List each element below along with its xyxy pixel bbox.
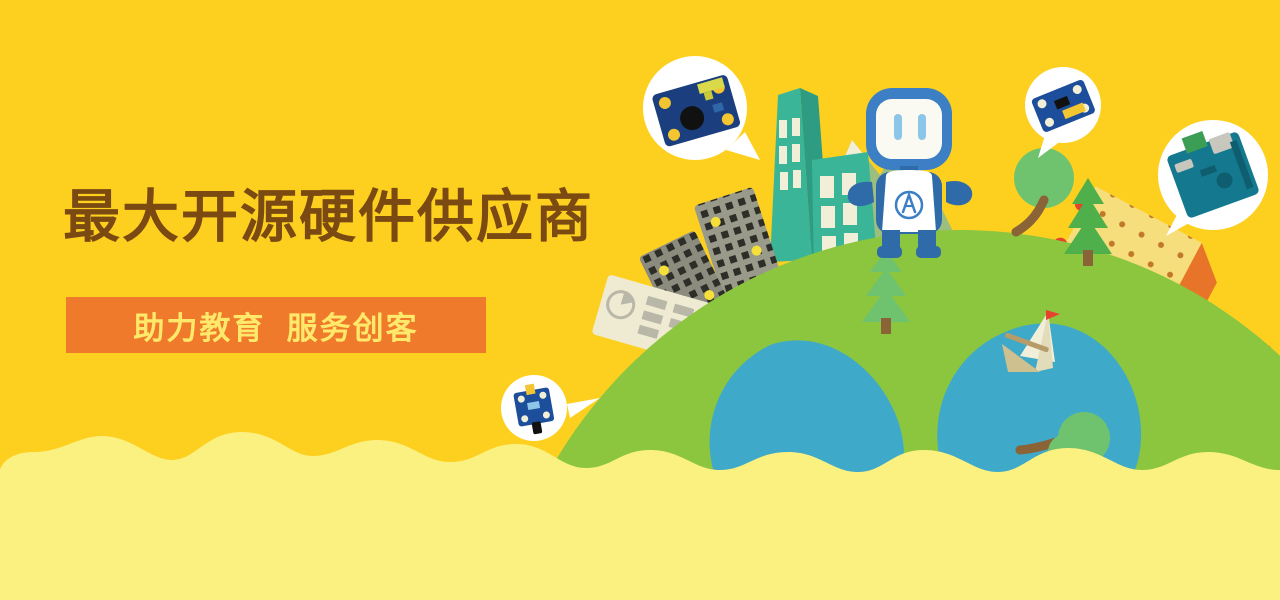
tagline-text: 助力教育 服务创客 (133, 303, 418, 348)
tagline-badge: 助力教育 服务创客 (66, 297, 486, 353)
foreground-cloud (0, 432, 1280, 600)
promo-banner: 最大开源硬件供应商 助力教育 服务创客 (0, 0, 1280, 600)
page-title: 最大开源硬件供应商 (63, 186, 594, 248)
